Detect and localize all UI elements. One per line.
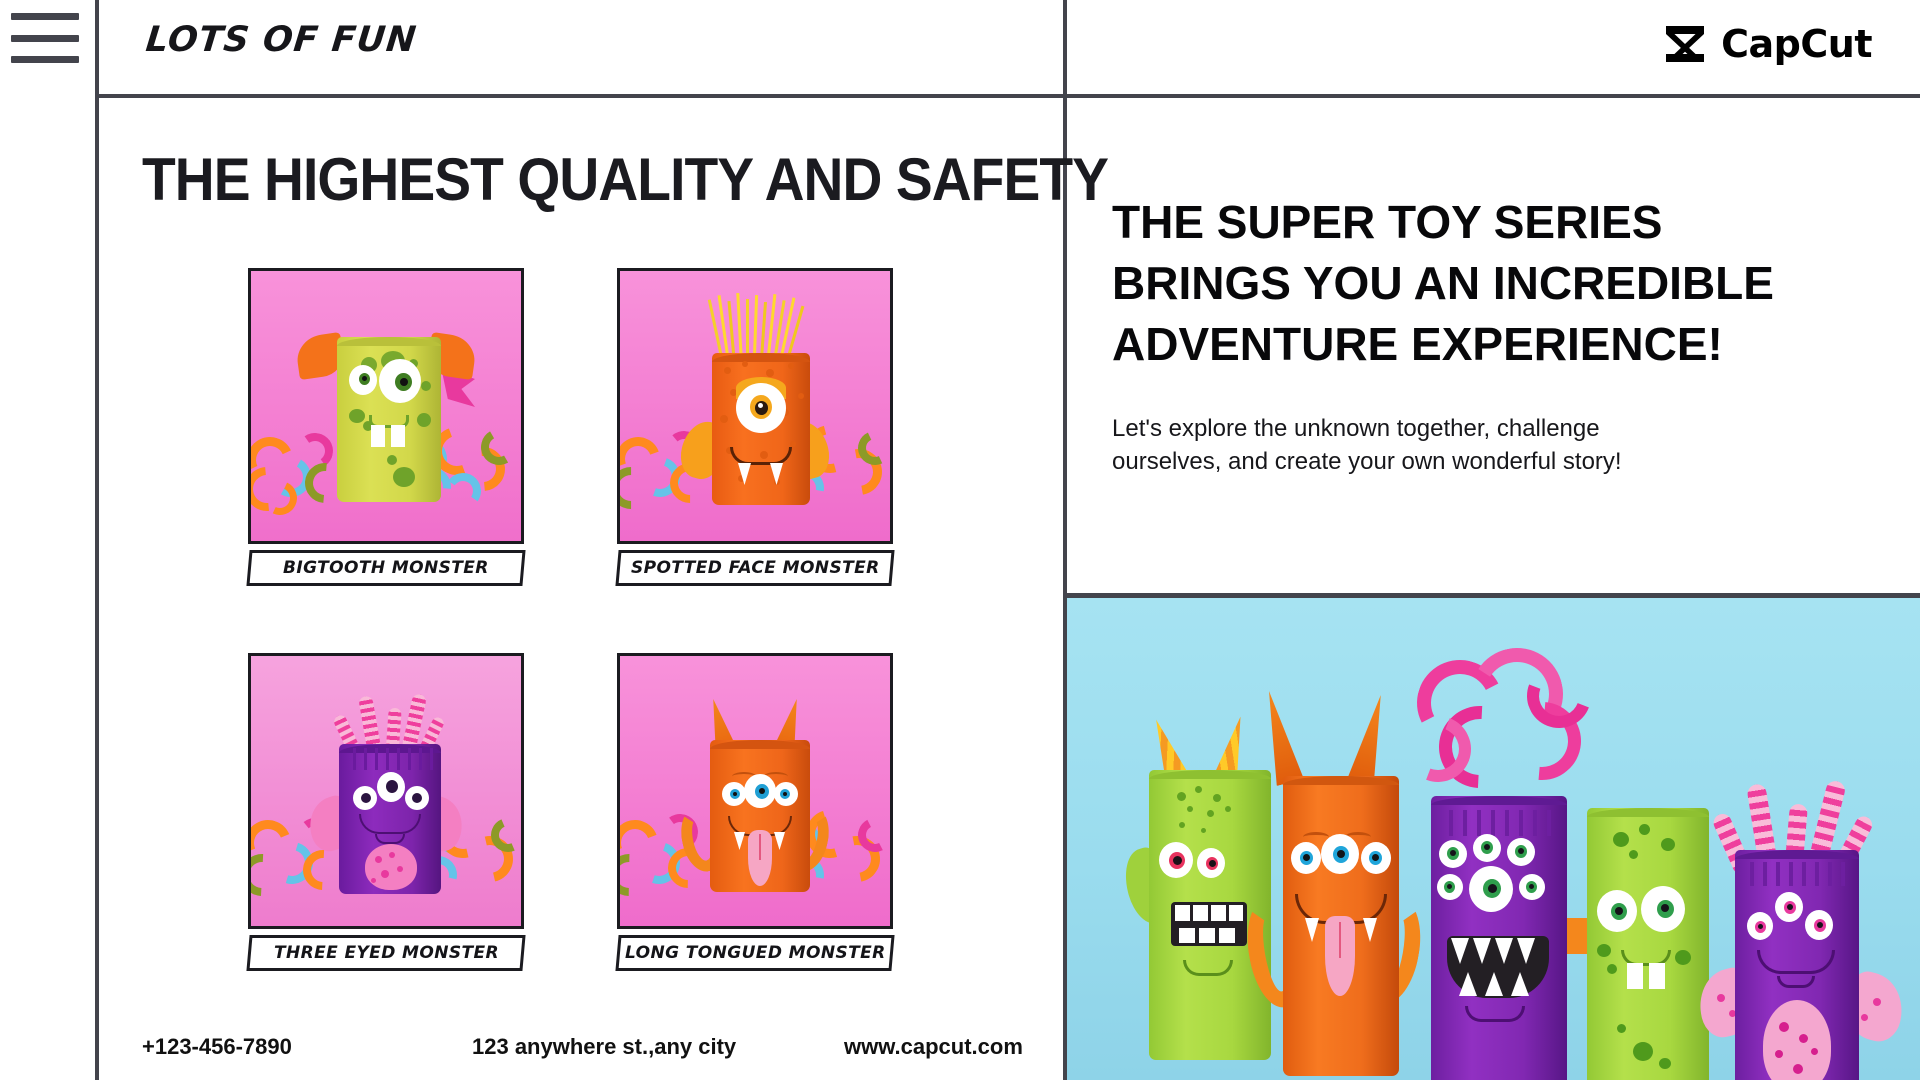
capcut-logo-mark (1663, 24, 1707, 64)
product-card[interactable]: BIGTOOTH MONSTER (248, 268, 524, 586)
orange-cyclops-monster-photo (617, 268, 893, 544)
right-panel-heading: THE SUPER TOY SERIES BRINGS YOU AN INCRE… (1112, 192, 1852, 376)
footer-phone[interactable]: +123-456-7890 (142, 1034, 472, 1060)
yellow-green-monster-photo (248, 268, 524, 544)
product-card-label: THREE EYED MONSTER (246, 935, 525, 971)
product-card[interactable]: SPOTTED FACE MONSTER (617, 268, 893, 586)
hamburger-bar-1 (11, 13, 79, 20)
footer-contact-bar: +123-456-7890 123 anywhere st.,any city … (142, 1034, 1042, 1060)
capcut-logo[interactable]: CapCut (1663, 22, 1872, 66)
left-vertical-rule (95, 0, 99, 1080)
footer-address: 123 anywhere st.,any city (472, 1034, 844, 1060)
hamburger-menu-icon[interactable] (11, 13, 79, 63)
footer-website[interactable]: www.capcut.com (844, 1034, 1023, 1060)
hamburger-bar-2 (11, 35, 79, 42)
orange-long-tongue-monster-photo (617, 653, 893, 929)
product-card-label: BIGTOOTH MONSTER (246, 550, 525, 586)
brand-title: LOTS OF FUN (144, 20, 419, 60)
left-panel-heading: THE HIGHEST QUALITY AND SAFETY (142, 145, 1108, 214)
product-card-label: SPOTTED FACE MONSTER (615, 550, 894, 586)
five-paper-roll-monsters-group-photo (1067, 598, 1920, 1080)
product-card[interactable]: THREE EYED MONSTER (248, 653, 524, 971)
product-card-grid: BIGTOOTH MONSTER (248, 268, 928, 971)
purple-three-eyed-monster-photo (248, 653, 524, 929)
product-card-label: LONG TONGUED MONSTER (615, 935, 894, 971)
hamburger-bar-3 (11, 56, 79, 63)
header-bottom-rule (95, 94, 1920, 98)
product-card[interactable]: LONG TONGUED MONSTER (617, 653, 893, 971)
capcut-logo-text: CapCut (1721, 22, 1872, 66)
right-panel-body: Let's explore the unknown together, chal… (1112, 412, 1672, 478)
